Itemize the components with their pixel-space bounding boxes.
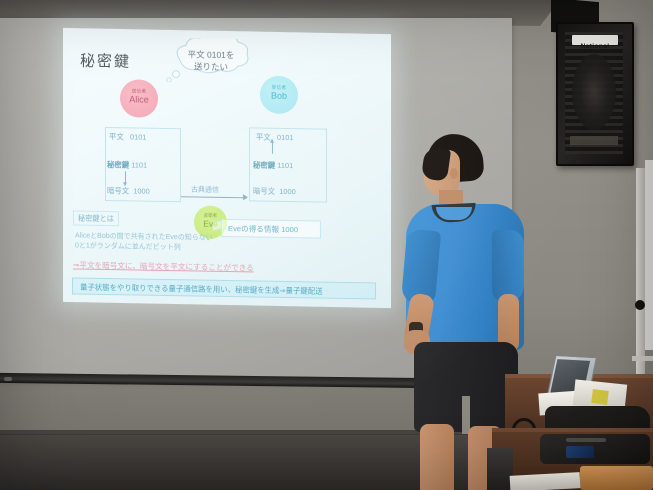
whiteboard-post xyxy=(636,168,645,404)
thought-cloud-text: 平文 0101を 送りたい xyxy=(174,48,248,73)
secret-key-definition-tag: 秘密鍵とは xyxy=(73,210,119,226)
alice-key-label: 秘密鍵 xyxy=(107,160,129,169)
qkd-highlight-box: 量子状態をやり取りできる量子通信路を用い、秘密鍵を生成⇒量子鍵配送 xyxy=(72,277,376,299)
whiteboard-knob[interactable] xyxy=(635,300,645,310)
bob-plaintext-row: 平文 0101 xyxy=(256,131,293,143)
whiteboard-panel xyxy=(645,160,653,350)
alice-cipher-value: 1000 xyxy=(133,186,149,195)
screen-bar-highlight xyxy=(4,377,12,381)
bob-key-label: 秘密鍵 xyxy=(253,160,275,169)
brown-book xyxy=(580,466,653,490)
bob-name: Bob xyxy=(260,91,298,103)
alice-key-value: 1101 xyxy=(131,160,147,169)
thought-line-2: 送りたい xyxy=(174,60,248,73)
eve-callout-text: Eveの得る情報 1000 xyxy=(228,223,298,235)
slide-title: 秘密鍵 xyxy=(80,50,131,72)
whiteboard-tray xyxy=(632,356,653,361)
bob-cipher-value: 1000 xyxy=(279,187,295,196)
bob-decrypt-arrow xyxy=(272,142,273,154)
wall-speaker: National xyxy=(556,22,634,166)
loose-paper xyxy=(510,472,581,490)
bob-plaintext-value: 0101 xyxy=(277,133,293,142)
phone-device[interactable] xyxy=(566,446,594,458)
bob-cipher-row: 暗号文 1000 xyxy=(253,185,296,197)
speaker-spec-label xyxy=(570,136,618,145)
channel-label: 古典通信 xyxy=(191,184,219,194)
note-conclusion: ⇒平文を暗号文に、暗号文を平文にすることができる xyxy=(73,259,254,273)
bob-plaintext-label: 平文 xyxy=(256,132,271,141)
alice-plaintext-label: 平文 xyxy=(109,132,124,141)
alice-encrypt-arrow xyxy=(125,171,126,183)
bob-key-row: 秘密鍵 1101 xyxy=(253,159,293,171)
classical-channel-arrow xyxy=(181,196,247,198)
pouch-zipper xyxy=(566,438,606,442)
thought-cloud: 平文 0101を 送りたい xyxy=(160,38,258,84)
bob-cipher-label: 暗号文 xyxy=(253,186,275,195)
alice-plaintext-value: 0101 xyxy=(130,132,146,141)
alice-plaintext-row: 平文 0101 xyxy=(109,131,146,143)
bob-key-value: 1101 xyxy=(277,161,293,170)
eve-callout: Eveの得る情報 1000 xyxy=(221,219,321,239)
yellow-note xyxy=(591,389,609,405)
note-conclusion-text: ⇒平文を暗号文に、暗号文を平文にすることができる xyxy=(73,260,254,272)
alice-cipher-label: 暗号文 xyxy=(107,186,129,195)
left-leg xyxy=(420,424,454,490)
speaker-cone xyxy=(572,54,616,130)
alice-key-row: 秘密鍵 1101 xyxy=(107,159,147,171)
alice-bubble: 送信者 Alice xyxy=(120,79,158,118)
alice-cipher-row: 暗号文 1000 xyxy=(107,185,150,197)
projected-slide: 秘密鍵 平文 0101を 送りたい 送信者 Alice 受信者 Bob xyxy=(63,28,391,308)
alice-name: Alice xyxy=(120,94,158,106)
speaker-brand-badge: National xyxy=(572,35,618,45)
presenter-ear xyxy=(450,168,458,179)
qkd-highlight-text: 量子状態をやり取りできる量子通信路を用い、秘密鍵を生成⇒量子鍵配送 xyxy=(80,282,323,297)
speaker-brand-text: National xyxy=(581,43,610,50)
lecture-room-screenshot: 秘密鍵 平文 0101を 送りたい 送信者 Alice 受信者 Bob xyxy=(0,0,653,490)
bob-bubble: 受信者 Bob xyxy=(260,76,298,115)
note-line-2: 0と1がランダムに並んだビット列 xyxy=(75,240,181,252)
right-sleeve xyxy=(492,230,524,302)
